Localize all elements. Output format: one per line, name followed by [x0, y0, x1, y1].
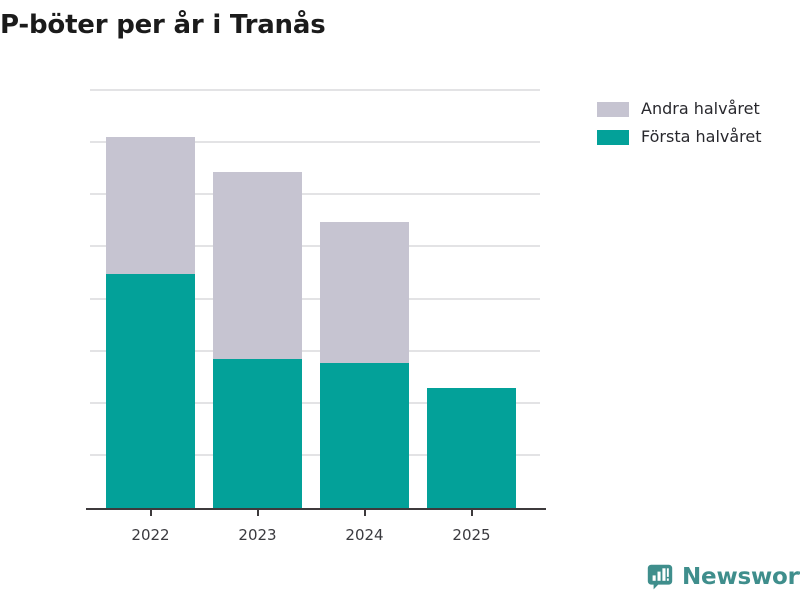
legend-item-andra-halvaret[interactable]: Andra halvåret [597, 96, 797, 122]
x-axis-tick-mark [471, 508, 473, 516]
x-axis-tick-label: 2022 [101, 526, 201, 544]
x-axis-tick-mark [257, 508, 259, 516]
bar-segment-forsta-halvaret[interactable] [213, 359, 302, 508]
bar-group-2024[interactable] [320, 222, 409, 508]
bar-group-2022[interactable] [106, 137, 195, 508]
bar-segment-forsta-halvaret[interactable] [320, 363, 409, 508]
bar-segment-forsta-halvaret[interactable] [427, 388, 516, 508]
legend-swatch-icon [597, 130, 629, 145]
legend-item-label: Första halvåret [641, 128, 762, 146]
legend-item-forsta-halvaret[interactable]: Första halvåret [597, 124, 797, 150]
x-axis-tick-mark [150, 508, 152, 516]
x-axis-line [86, 508, 546, 510]
x-axis-tick-mark [364, 508, 366, 516]
bar-segment-forsta-halvaret[interactable] [106, 274, 195, 508]
x-axis-tick-label: 2025 [422, 526, 522, 544]
newsworthy-logo[interactable]: Newsworthy [647, 564, 800, 590]
x-axis-tick-label: 2023 [208, 526, 308, 544]
bar-group-2023[interactable] [213, 172, 302, 508]
newsworthy-wordmark: Newsworthy [682, 564, 800, 590]
bar-segment-andra-halvaret[interactable] [320, 222, 409, 363]
x-axis-tick-label: 2024 [315, 526, 415, 544]
bar-segment-andra-halvaret[interactable] [106, 137, 195, 275]
gridline [90, 89, 540, 91]
legend-item-label: Andra halvåret [641, 100, 760, 118]
bar-group-2025[interactable] [427, 388, 516, 508]
legend-swatch-icon [597, 102, 629, 117]
chart-legend: Andra halvåret Första halvåret [597, 96, 797, 152]
bar-segment-andra-halvaret[interactable] [213, 172, 302, 359]
plot-area: 2 0001 7501 5001 2501 000750500250020222… [90, 91, 545, 508]
newsworthy-bar-chart-bubble-icon [647, 564, 673, 590]
chart-container: P-böter per år i Tranås 2 0001 7501 5001… [0, 0, 800, 600]
page-title: P-böter per år i Tranås [0, 8, 780, 42]
